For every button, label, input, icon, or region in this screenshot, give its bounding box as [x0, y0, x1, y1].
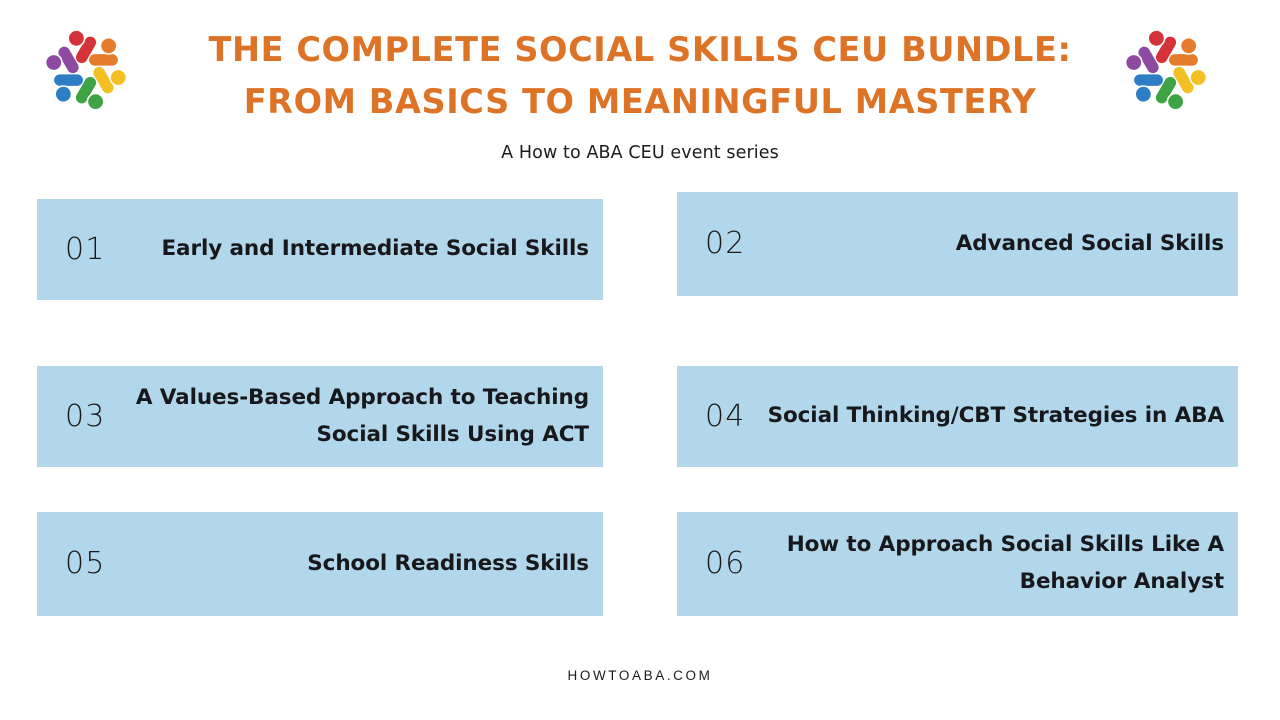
page-title-line-1: The Complete Social Skills CEU Bundle: [150, 24, 1130, 76]
session-card-03[interactable]: 03 A Values-Based Approach to Teaching S… [37, 366, 603, 467]
page-subtitle: A How to ABA CEU event series [0, 143, 1280, 163]
website-url[interactable]: HOWTOABA.COM [568, 668, 713, 683]
session-card-grid: 01 Early and Intermediate Social Skills … [0, 192, 1280, 632]
session-number: 01 [65, 235, 106, 265]
session-title: School Readiness Skills [106, 546, 589, 583]
session-title: How to Approach Social Skills Like A Beh… [746, 527, 1224, 601]
session-title: Early and Intermediate Social Skills [106, 231, 589, 268]
session-title: A Values-Based Approach to Teaching Soci… [106, 380, 589, 454]
session-title: Advanced Social Skills [746, 226, 1224, 263]
session-number: 05 [65, 549, 106, 579]
session-number: 04 [705, 402, 746, 432]
page-header: The Complete Social Skills CEU Bundle: F… [0, 0, 1280, 175]
people-ring-icon [38, 22, 134, 118]
page-title-line-2: From Basics to Meaningful Mastery [150, 76, 1130, 128]
how-to-aba-logo-left [38, 22, 134, 118]
page-title: The Complete Social Skills CEU Bundle: F… [150, 24, 1130, 128]
how-to-aba-logo-right [1118, 22, 1214, 118]
page-footer: HOWTOABA.COM [0, 630, 1280, 720]
session-card-04[interactable]: 04 Social Thinking/CBT Strategies in ABA [677, 366, 1238, 467]
session-number: 06 [705, 549, 746, 579]
session-number: 03 [65, 402, 106, 432]
session-card-05[interactable]: 05 School Readiness Skills [37, 512, 603, 616]
people-ring-icon [1118, 22, 1214, 118]
session-title: Social Thinking/CBT Strategies in ABA [746, 398, 1224, 435]
session-card-02[interactable]: 02 Advanced Social Skills [677, 192, 1238, 296]
session-card-01[interactable]: 01 Early and Intermediate Social Skills [37, 199, 603, 300]
session-number: 02 [705, 229, 746, 259]
session-card-06[interactable]: 06 How to Approach Social Skills Like A … [677, 512, 1238, 616]
